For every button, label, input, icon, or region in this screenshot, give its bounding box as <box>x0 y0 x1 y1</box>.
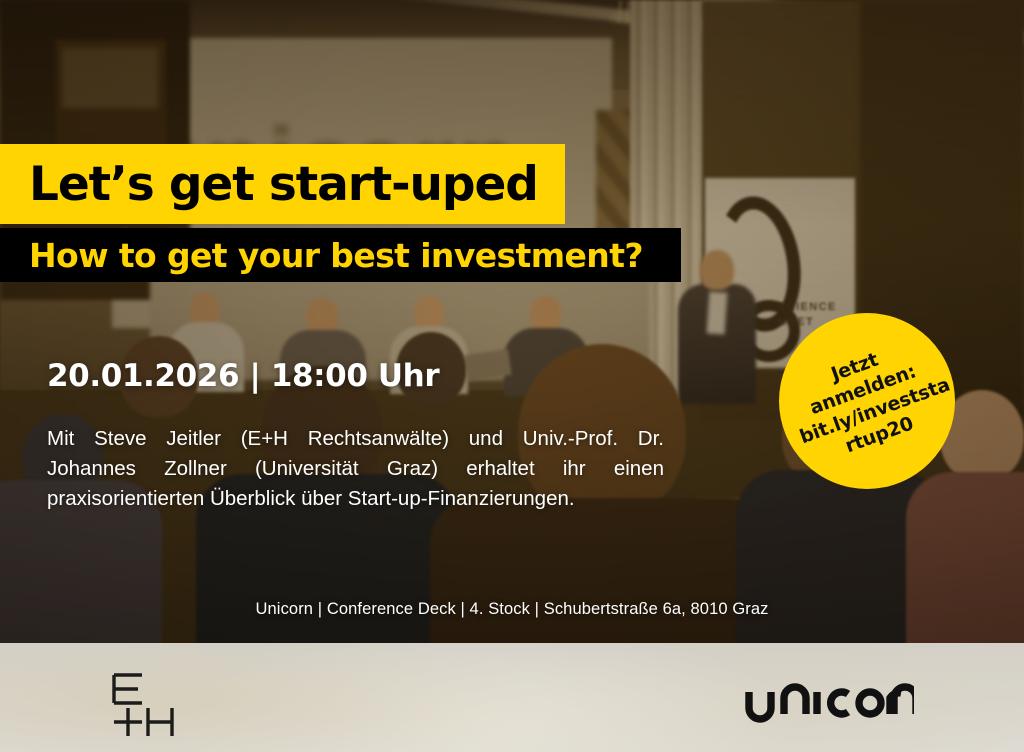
event-description: Mit Steve Jeitler (E+H Rechtsanwälte) un… <box>47 424 664 514</box>
event-description-line-1: Mit Steve Jeitler (E+H Rechtsanwälte) un… <box>47 424 664 454</box>
unicorn-logo <box>744 681 914 728</box>
headline-secondary: How to get your best investment? <box>0 236 643 275</box>
registration-badge[interactable]: Jetzt anmelden: bit.ly/investsta rtup20 <box>779 313 955 489</box>
headline-primary-bar: Let’s get start-uped <box>0 144 565 224</box>
event-datetime: 20.01.2026 | 18:00 Uhr <box>47 358 439 394</box>
eh-logo <box>112 672 192 745</box>
event-venue: Unicorn | Conference Deck | 4. Stock | S… <box>0 600 1024 619</box>
event-poster: unicorn SCIENCE MEET <box>0 0 1024 752</box>
registration-badge-text: Jetzt anmelden: bit.ly/investsta rtup20 <box>780 330 954 472</box>
event-description-line-3: praxisorientierten Überblick über Start-… <box>47 484 664 514</box>
headline-secondary-bar: How to get your best investment? <box>0 228 681 282</box>
headline-primary: Let’s get start-uped <box>0 157 538 212</box>
event-description-line-2: Johannes Zollner (Universität Graz) erha… <box>47 454 664 484</box>
